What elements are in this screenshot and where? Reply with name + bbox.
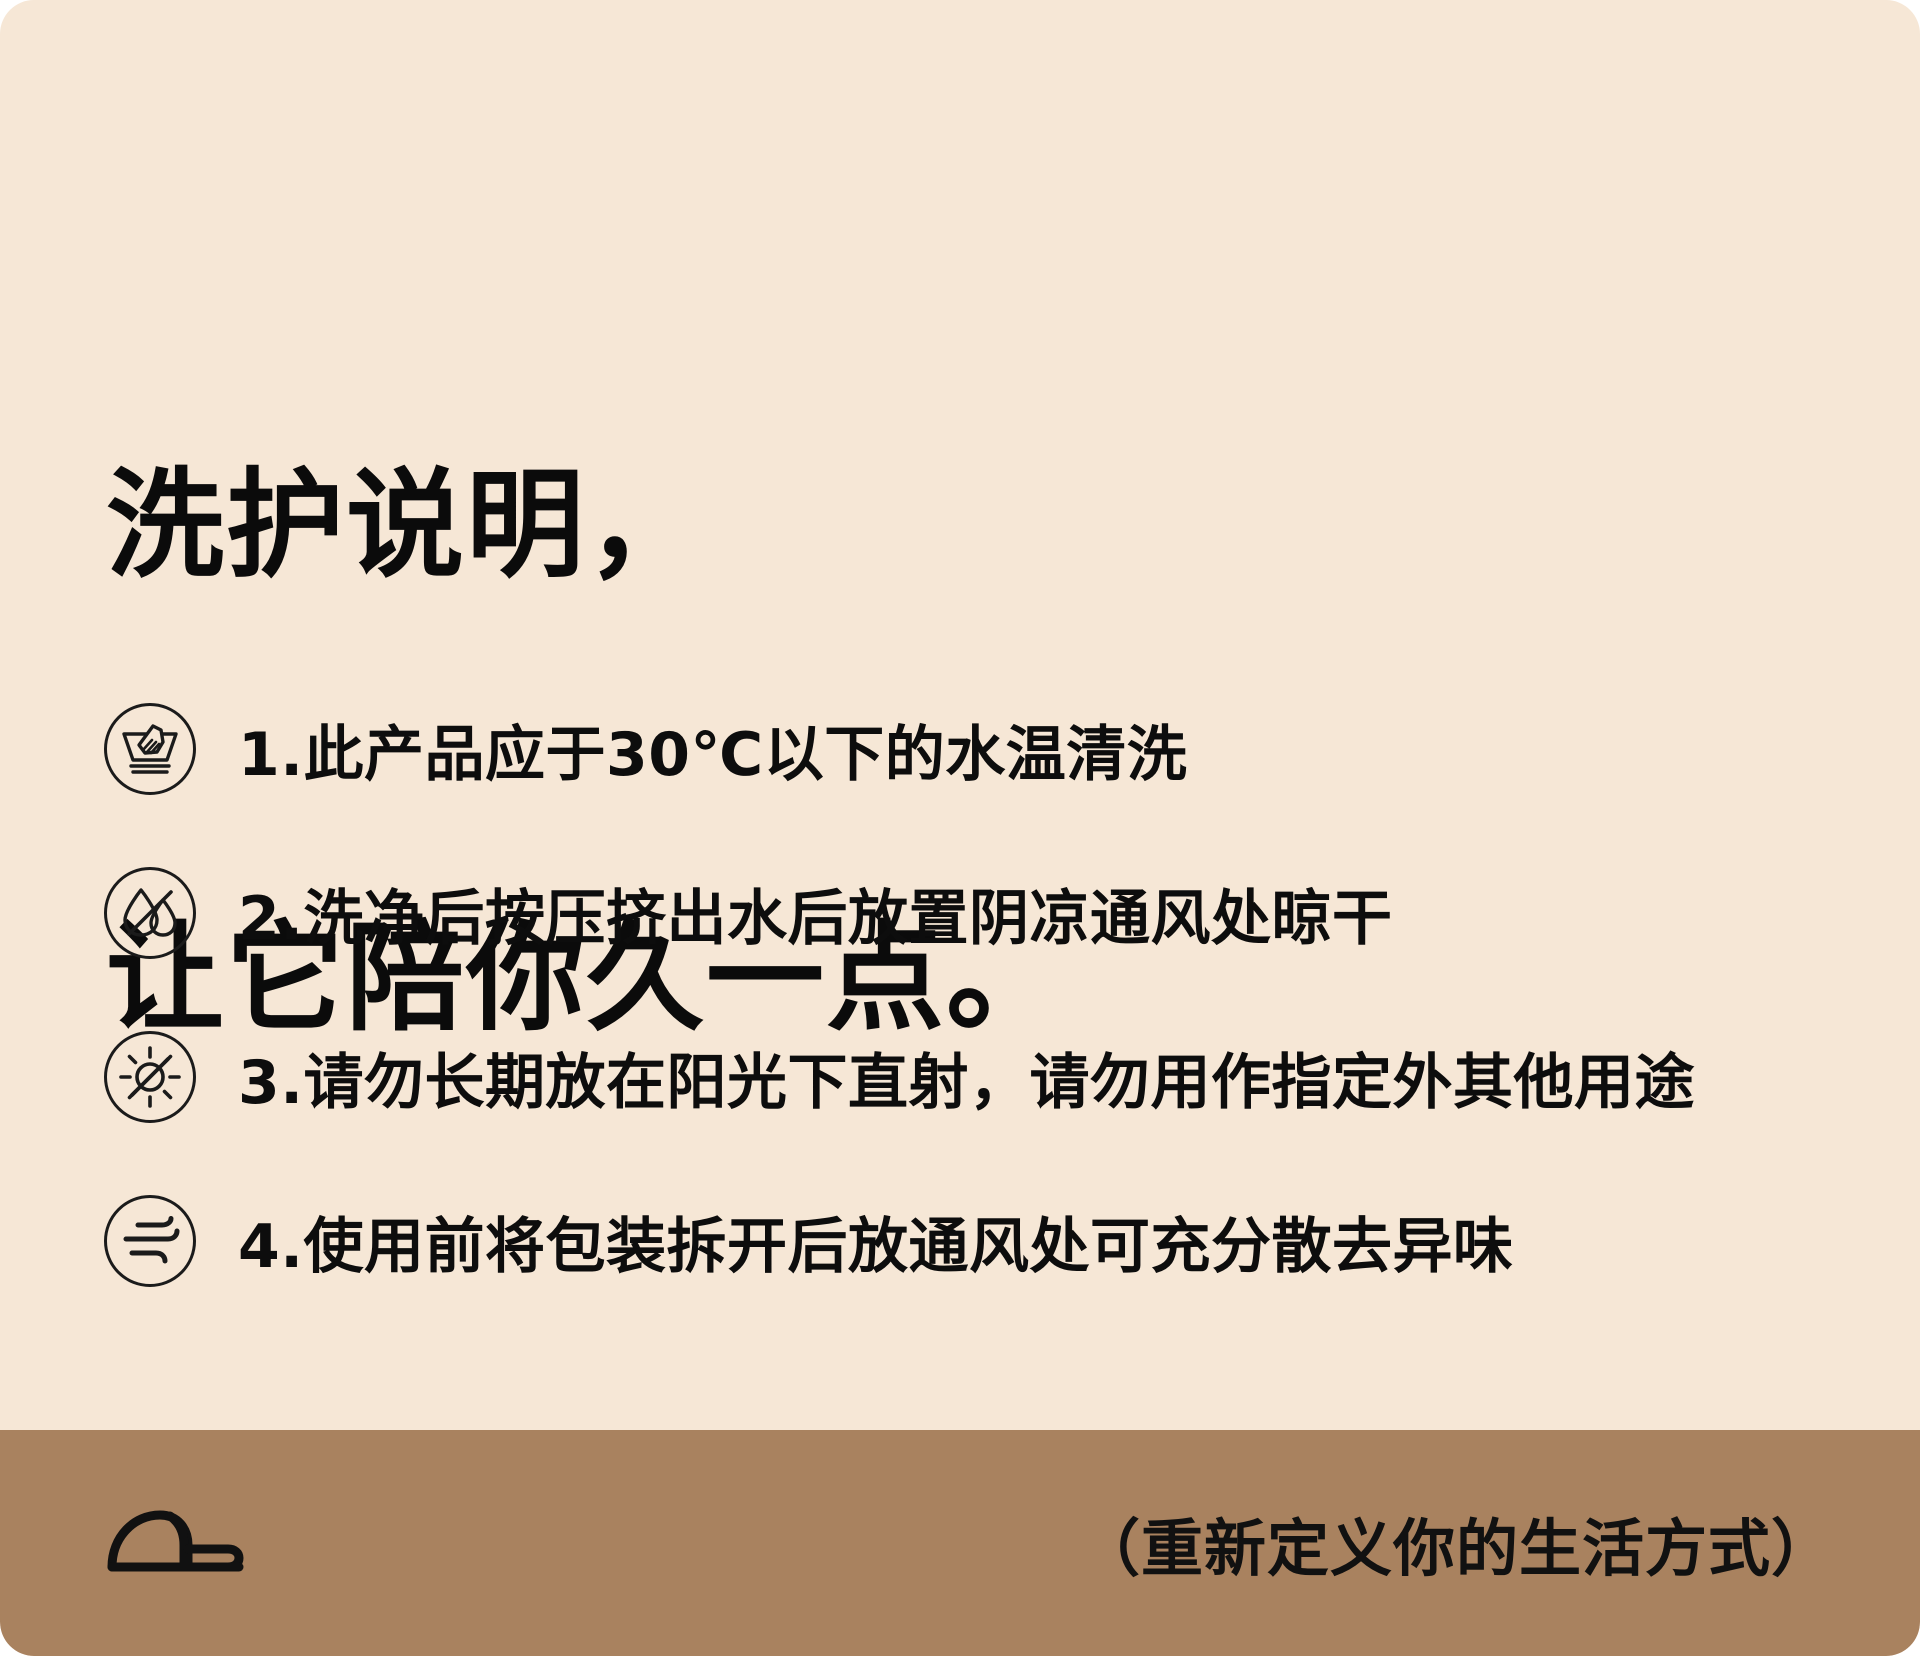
instruction-text: 1.此产品应于30℃以下的水温清洗 <box>238 706 1187 793</box>
footer-tagline: （重新定义你的生活方式） <box>1078 1498 1834 1588</box>
list-item: 4.使用前将包装拆开后放通风处可充分散去异味 <box>104 1182 1864 1300</box>
baseball-cap-icon <box>104 1503 246 1583</box>
no-wring-water-drop-icon <box>104 867 196 959</box>
instruction-list: 1.此产品应于30℃以下的水温清洗 2.洗净后按压挤出水后放置阴凉通风处晾干 <box>104 690 1864 1346</box>
page-root: 洗护说明， 让它陪你久一点。 1.此产品应于30℃以下的水温清洗 <box>0 0 1920 1656</box>
instruction-text: 4.使用前将包装拆开后放通风处可充分散去异味 <box>238 1198 1514 1285</box>
hand-wash-icon <box>104 703 196 795</box>
care-instructions-card: 洗护说明， 让它陪你久一点。 1.此产品应于30℃以下的水温清洗 <box>0 0 1920 1656</box>
footer-bar: （重新定义你的生活方式） <box>0 1430 1920 1656</box>
page-title-line-1: 洗护说明， <box>106 450 1506 601</box>
instruction-text: 3.请勿长期放在阳光下直射，请勿用作指定外其他用途 <box>238 1034 1695 1121</box>
list-item: 2.洗净后按压挤出水后放置阴凉通风处晾干 <box>104 854 1864 972</box>
list-item: 3.请勿长期放在阳光下直射，请勿用作指定外其他用途 <box>104 1018 1864 1136</box>
no-direct-sunlight-icon <box>104 1031 196 1123</box>
ventilation-wind-icon <box>104 1195 196 1287</box>
list-item: 1.此产品应于30℃以下的水温清洗 <box>104 690 1864 808</box>
instruction-text: 2.洗净后按压挤出水后放置阴凉通风处晾干 <box>238 870 1393 957</box>
